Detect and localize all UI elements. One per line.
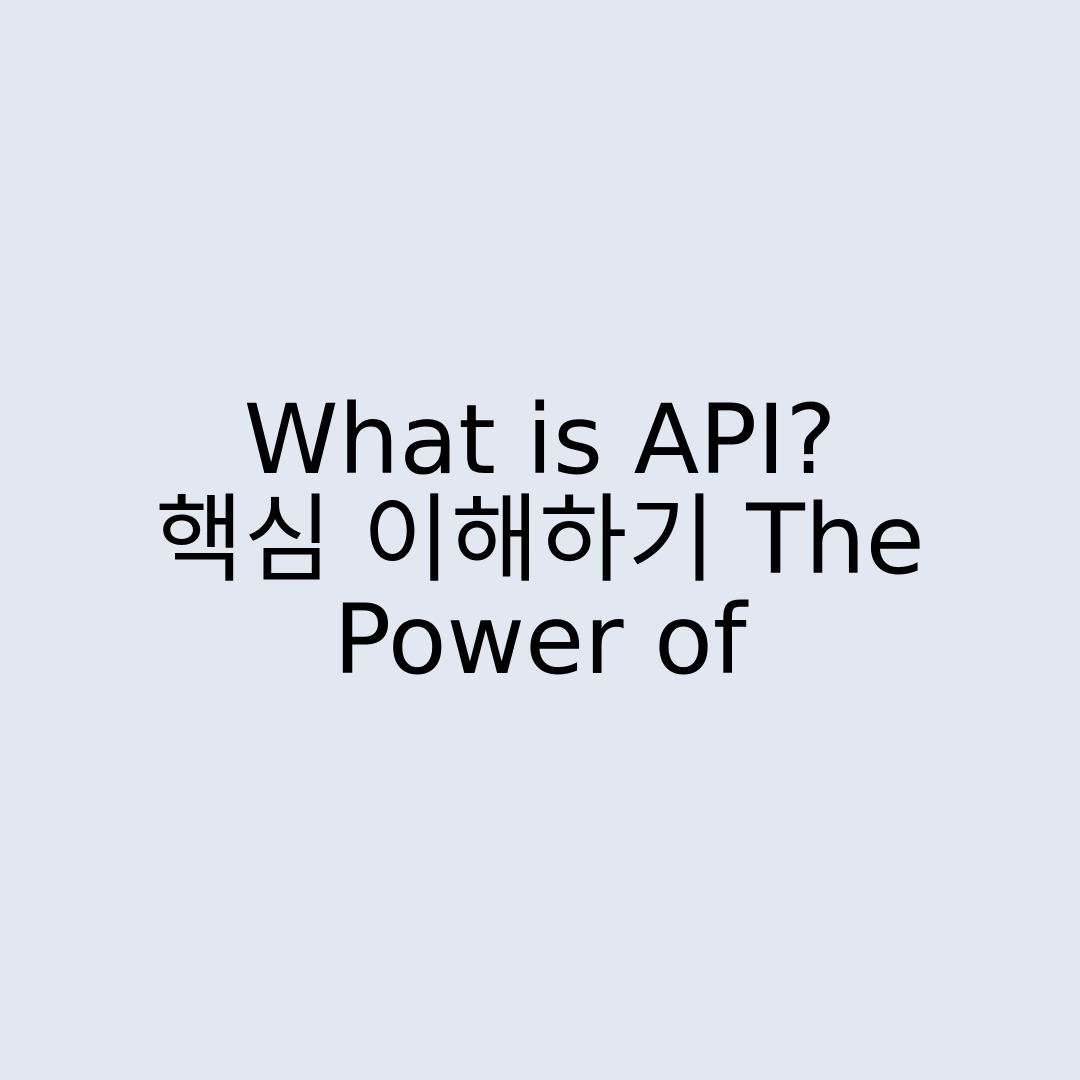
title-card: What is API? 핵심 이해하기 The Power of bbox=[0, 0, 1080, 1080]
headline-line-3: Power of bbox=[48, 590, 1032, 690]
headline-block: What is API? 핵심 이해하기 The Power of bbox=[0, 390, 1080, 690]
headline-line-2: 핵심 이해하기 The bbox=[48, 490, 1032, 590]
headline-line-1: What is API? bbox=[48, 390, 1032, 490]
